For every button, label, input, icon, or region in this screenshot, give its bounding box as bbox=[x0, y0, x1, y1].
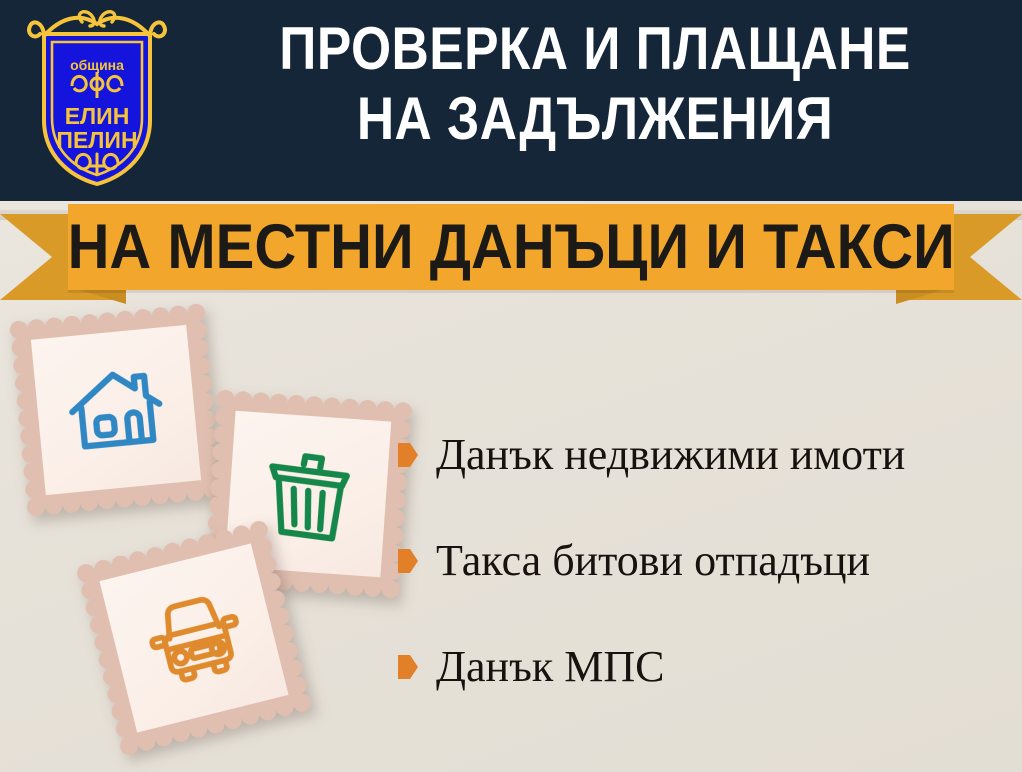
header-bar: община ЕЛИН ПЕЛИН ПРОВЕРКА И ПЛАЩАНЕ НА … bbox=[0, 0, 1022, 201]
logo-text-obshtina: община bbox=[70, 57, 124, 73]
page-title: ПРОВЕРКА И ПЛАЩАНЕ НА ЗАДЪЛЖЕНИЯ bbox=[238, 14, 952, 154]
ribbon-label: НА МЕСТНИ ДАНЪЦИ И ТАКСИ bbox=[67, 216, 954, 279]
list-item[interactable]: Данък МПС bbox=[398, 636, 1008, 698]
list-item[interactable]: Данък недвижими имоти bbox=[398, 424, 1008, 486]
ribbon-panel: НА МЕСТНИ ДАНЪЦИ И ТАКСИ bbox=[68, 204, 954, 290]
bullet-arrow-icon bbox=[398, 443, 418, 467]
list-item-label: Такса битови отпадъци bbox=[436, 539, 870, 583]
bullet-arrow-icon bbox=[398, 549, 418, 573]
logo-text-pelin: ПЕЛИН bbox=[56, 127, 137, 153]
house-icon bbox=[31, 325, 201, 495]
municipality-logo: община ЕЛИН ПЕЛИН bbox=[22, 8, 172, 193]
logo-text-elin: ЕЛИН bbox=[65, 103, 130, 129]
stamp-card-property bbox=[9, 303, 223, 517]
ribbon-banner: НА МЕСТНИ ДАНЪЦИ И ТАКСИ bbox=[0, 200, 1022, 308]
tax-type-list: Данък недвижими имоти Такса битови отпад… bbox=[398, 424, 1008, 698]
list-item-label: Данък МПС bbox=[436, 645, 664, 689]
list-item-label: Данък недвижими имоти bbox=[436, 433, 905, 477]
bullet-arrow-icon bbox=[398, 655, 418, 679]
poster-root: община ЕЛИН ПЕЛИН ПРОВЕРКА И ПЛАЩАНЕ НА … bbox=[0, 0, 1022, 772]
list-item[interactable]: Такса битови отпадъци bbox=[398, 530, 1008, 592]
